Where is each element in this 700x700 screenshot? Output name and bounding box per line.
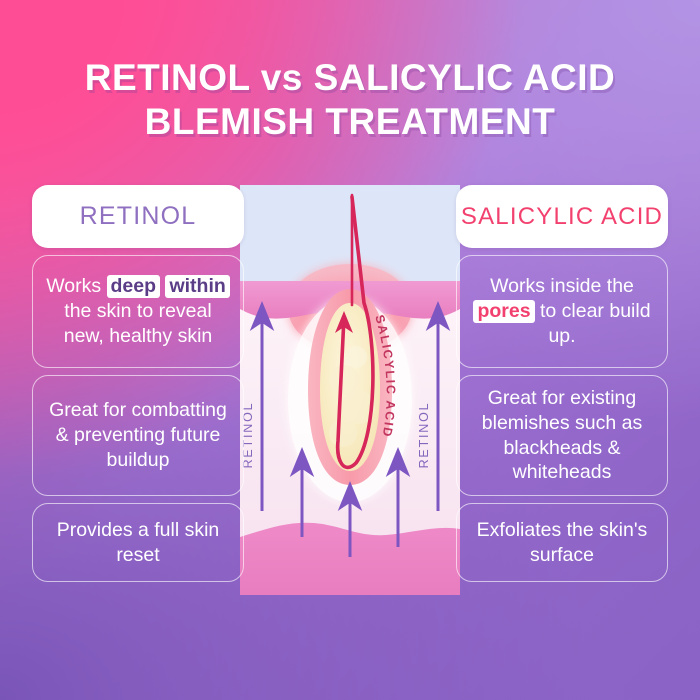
salicylic-cell-1: Works inside the pores to clear build up… bbox=[456, 255, 668, 368]
column-retinol: RETINOL Works deep within the skin to re… bbox=[32, 185, 244, 582]
retinol-cell-2: Great for combatting & preventing future… bbox=[32, 375, 244, 496]
highlight-pores: pores bbox=[473, 300, 534, 323]
retinol-cell-1: Works deep within the skin to reveal new… bbox=[32, 255, 244, 368]
retinol-cell-1-seg-0: Works bbox=[46, 275, 106, 297]
title-line-2: BLEMISH TREATMENT bbox=[0, 100, 700, 144]
column-heading-salicylic-acid: SALICYLIC ACID bbox=[456, 185, 668, 248]
retinol-cell-1-seg-4: the skin to reveal new, healthy skin bbox=[64, 300, 213, 347]
salicylic-cell-3: Exfoliates the skin's surface bbox=[456, 503, 668, 582]
highlight-deep: deep bbox=[107, 275, 161, 298]
highlight-within: within bbox=[165, 275, 229, 298]
column-heading-retinol: RETINOL bbox=[32, 185, 244, 248]
salicylic-cell-2: Great for existing blemishes such as bla… bbox=[456, 375, 668, 496]
retinol-cell-3: Provides a full skin reset bbox=[32, 503, 244, 582]
title-line-1: RETINOL vs SALICYLIC ACID bbox=[85, 57, 616, 98]
salicylic-cell-1-seg-0: Works inside the bbox=[490, 275, 634, 297]
page-title: RETINOL vs SALICYLIC ACID BLEMISH TREATM… bbox=[0, 56, 700, 143]
comparison-grid: RETINOL Works deep within the skin to re… bbox=[32, 185, 668, 595]
salicylic-cell-1-seg-2: to clear build up. bbox=[535, 300, 651, 347]
column-salicylic-acid: SALICYLIC ACID Works inside the pores to… bbox=[456, 185, 668, 582]
